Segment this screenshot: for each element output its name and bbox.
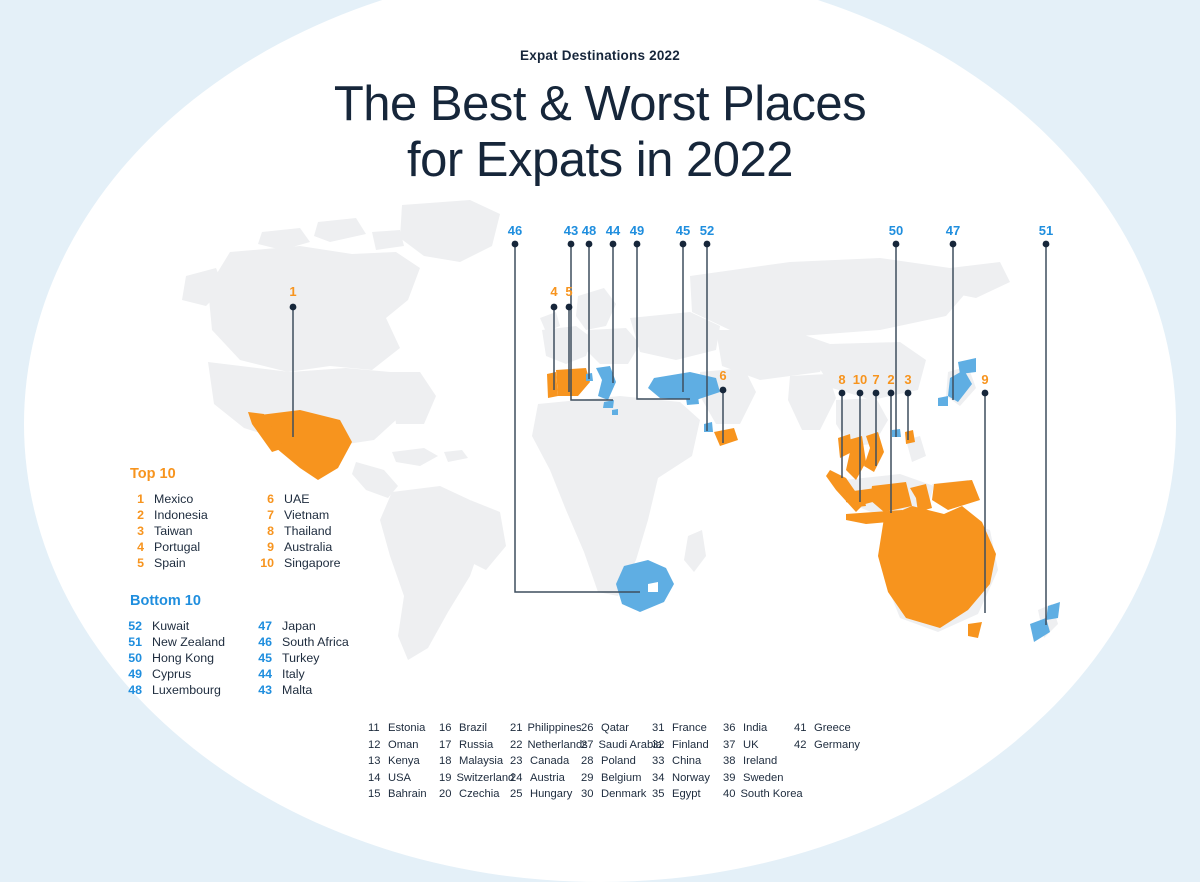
other-rank: 14	[368, 770, 383, 787]
legend-bottom-10-column-1: 52Kuwait51New Zealand50Hong Kong49Cyprus…	[120, 618, 250, 698]
legend-bottom-10-column-2: 47Japan46South Africa45Turkey44Italy43Ma…	[250, 618, 349, 698]
land-india	[788, 374, 836, 430]
other-rankings-row: 30Denmark	[581, 786, 652, 803]
legend-rank: 44	[250, 666, 272, 682]
dot-6	[720, 387, 727, 394]
other-rankings-row: 35Egypt	[652, 786, 723, 803]
legend-row: 10Singapore	[258, 555, 341, 571]
land-canada	[208, 246, 420, 372]
land-caribbean	[392, 448, 438, 466]
legend-rank: 10	[258, 555, 274, 571]
map-marker-label-portugal[interactable]: 4	[550, 284, 557, 299]
legend-row: 3Taiwan	[128, 523, 258, 539]
map-marker-label-uae[interactable]: 6	[719, 368, 726, 383]
dot-9	[982, 390, 989, 397]
other-rank: 26	[581, 720, 596, 737]
legend-row: 8Thailand	[258, 523, 341, 539]
legend-rank: 2	[128, 507, 144, 523]
land-scandinavia	[576, 288, 616, 330]
other-rankings-row: 21Philippines	[510, 720, 581, 737]
other-rankings-table: 11Estonia12Oman13Kenya14USA15Bahrain16Br…	[368, 720, 865, 803]
dot-50	[893, 241, 900, 248]
legend-rank: 45	[250, 650, 272, 666]
map-marker-label-mexico[interactable]: 1	[289, 284, 296, 299]
dot-51	[1043, 241, 1050, 248]
other-rankings-row: 14USA	[368, 770, 439, 787]
other-rankings-column: 41Greece42Germany	[794, 720, 865, 803]
legend-country-name: New Zealand	[152, 634, 225, 650]
legend-rank: 50	[120, 650, 142, 666]
map-marker-label-luxembourg[interactable]: 48	[582, 223, 596, 238]
other-rankings-row: 20Czechia	[439, 786, 510, 803]
country-vietnam	[864, 432, 884, 472]
other-rankings-column: 26Qatar27Saudi Arabia28Poland29Belgium30…	[581, 720, 652, 803]
legend-row: 9Australia	[258, 539, 341, 555]
legend-rank: 43	[250, 682, 272, 698]
map-marker-label-australia[interactable]: 9	[981, 372, 988, 387]
map-marker-label-indonesia[interactable]: 2	[887, 372, 894, 387]
other-rank: 21	[510, 720, 522, 737]
other-rankings-row: 27Saudi Arabia	[581, 737, 652, 754]
header: Expat Destinations 2022 The Best & Worst…	[0, 0, 1200, 188]
legend-country-name: Taiwan	[154, 523, 193, 539]
other-rank: 15	[368, 786, 383, 803]
map-marker-label-singapore[interactable]: 10	[853, 372, 867, 387]
other-rankings-row: 29Belgium	[581, 770, 652, 787]
map-marker-label-malta[interactable]: 43	[564, 223, 578, 238]
legend-bottom-10-heading: Bottom 10	[130, 593, 349, 609]
legend-row: 4Portugal	[128, 539, 258, 555]
land-usa-east	[390, 372, 436, 424]
other-country-name: Oman	[388, 737, 418, 754]
other-country-name: Poland	[601, 753, 636, 770]
other-country-name: Russia	[459, 737, 493, 754]
other-rank: 41	[794, 720, 809, 737]
map-marker-label-italy[interactable]: 44	[606, 223, 620, 238]
dot-49	[634, 241, 641, 248]
land-africa	[532, 396, 700, 596]
legend-row: 7Vietnam	[258, 507, 341, 523]
legend-country-name: Kuwait	[152, 618, 189, 634]
other-country-name: Finland	[672, 737, 709, 754]
other-rank: 16	[439, 720, 454, 737]
other-rankings-row: 11Estonia	[368, 720, 439, 737]
map-marker-label-south-africa[interactable]: 46	[508, 223, 522, 238]
other-country-name: Philippines	[527, 720, 581, 737]
other-rankings-column: 21Philippines22Netherlands23Canada24Aust…	[510, 720, 581, 803]
land-greenland	[400, 200, 500, 262]
legend-rank: 47	[250, 618, 272, 634]
other-rankings-row: 26Qatar	[581, 720, 652, 737]
other-rank: 35	[652, 786, 667, 803]
other-rankings-row: 28Poland	[581, 753, 652, 770]
other-country-name: Switzerland	[456, 770, 514, 787]
other-rank: 40	[723, 786, 735, 803]
legend-rank: 7	[258, 507, 274, 523]
legend-country-name: Portugal	[154, 539, 200, 555]
other-rank: 36	[723, 720, 738, 737]
map-marker-label-cyprus[interactable]: 49	[630, 223, 644, 238]
dot-46	[512, 241, 519, 248]
other-rank: 23	[510, 753, 525, 770]
land-arctic-islands-3	[372, 230, 404, 250]
other-country-name: France	[672, 720, 707, 737]
legend-country-name: Mexico	[154, 491, 193, 507]
other-country-name: Hungary	[530, 786, 572, 803]
dot-45	[680, 241, 687, 248]
other-rankings-row: 32Finland	[652, 737, 723, 754]
other-country-name: Bahrain	[388, 786, 427, 803]
other-rankings-row: 39Sweden	[723, 770, 794, 787]
other-rankings-row: 16Brazil	[439, 720, 510, 737]
map-marker-label-hong-kong[interactable]: 50	[889, 223, 903, 238]
other-rankings-column: 36India37UK38Ireland39Sweden40South Kore…	[723, 720, 794, 803]
legend-rank: 9	[258, 539, 274, 555]
legend-rank: 52	[120, 618, 142, 634]
other-rank: 34	[652, 770, 667, 787]
other-rank: 18	[439, 753, 454, 770]
other-rankings-row: 15Bahrain	[368, 786, 439, 803]
other-rank: 12	[368, 737, 383, 754]
other-rank: 19	[439, 770, 451, 787]
legend-country-name: Thailand	[284, 523, 332, 539]
other-country-name: Sweden	[743, 770, 783, 787]
country-nz-south	[1030, 618, 1050, 642]
other-rank: 13	[368, 753, 383, 770]
other-rankings-row: 17Russia	[439, 737, 510, 754]
other-rankings-row: 38Ireland	[723, 753, 794, 770]
other-rankings-row: 41Greece	[794, 720, 865, 737]
dot-52	[704, 241, 711, 248]
legend-top-10-heading: Top 10	[130, 466, 341, 482]
other-country-name: Greece	[814, 720, 851, 737]
other-rankings-row: 22Netherlands	[510, 737, 581, 754]
other-rankings-row: 40South Korea	[723, 786, 794, 803]
legend-country-name: Indonesia	[154, 507, 208, 523]
country-indonesia-papua	[932, 480, 980, 510]
legend-row: 51New Zealand	[120, 634, 250, 650]
other-rank: 27	[581, 737, 593, 754]
dot-44	[610, 241, 617, 248]
country-nz-north	[1046, 602, 1060, 620]
map-marker-label-thailand[interactable]: 8	[838, 372, 845, 387]
legend-rank: 3	[128, 523, 144, 539]
legend-country-name: Japan	[282, 618, 316, 634]
other-rankings-row: 12Oman	[368, 737, 439, 754]
legend-rank: 6	[258, 491, 274, 507]
land-europe-west	[542, 326, 592, 364]
other-country-name: Brazil	[459, 720, 487, 737]
legend-top-10: Top 10 1Mexico2Indonesia3Taiwan4Portugal…	[128, 466, 341, 571]
other-rank: 39	[723, 770, 738, 787]
legend-country-name: Malta	[282, 682, 312, 698]
legend-rank: 48	[120, 682, 142, 698]
other-country-name: Egypt	[672, 786, 701, 803]
other-rank: 20	[439, 786, 454, 803]
other-country-name: Czechia	[459, 786, 499, 803]
other-rankings-row: 23Canada	[510, 753, 581, 770]
other-country-name: Norway	[672, 770, 710, 787]
dot-47	[950, 241, 957, 248]
page-title: The Best & Worst Places for Expats in 20…	[0, 76, 1200, 188]
other-country-name: Ireland	[743, 753, 777, 770]
legend-row: 47Japan	[250, 618, 349, 634]
land-madagascar	[684, 530, 706, 572]
other-rank: 28	[581, 753, 596, 770]
land-south-america	[380, 486, 484, 660]
legend-country-name: UAE	[284, 491, 309, 507]
other-rank: 29	[581, 770, 596, 787]
other-country-name: Germany	[814, 737, 860, 754]
other-rankings-row: 25Hungary	[510, 786, 581, 803]
other-rankings-column: 31France32Finland33China34Norway35Egypt	[652, 720, 723, 803]
legend-country-name: Australia	[284, 539, 332, 555]
country-south-africa	[616, 560, 674, 612]
other-rankings-row: 36India	[723, 720, 794, 737]
infographic-canvas: Expat Destinations 2022 The Best & Worst…	[0, 0, 1200, 848]
legend-country-name: Spain	[154, 555, 186, 571]
map-marker-label-japan[interactable]: 47	[946, 223, 960, 238]
map-marker-label-new-zealand[interactable]: 51	[1039, 223, 1053, 238]
legend-row: 2Indonesia	[128, 507, 258, 523]
other-country-name: UK	[743, 737, 759, 754]
title-line-1: The Best & Worst Places	[334, 77, 866, 131]
legend-rank: 5	[128, 555, 144, 571]
legend-country-name: Italy	[282, 666, 305, 682]
other-country-name: USA	[388, 770, 411, 787]
other-rank: 24	[510, 770, 525, 787]
other-country-name: Canada	[530, 753, 569, 770]
country-malta	[612, 409, 618, 415]
other-rank: 31	[652, 720, 667, 737]
map-marker-label-kuwait[interactable]: 52	[700, 223, 714, 238]
other-rankings-row: 18Malaysia	[439, 753, 510, 770]
legend-row: 50Hong Kong	[120, 650, 250, 666]
title-line-2: for Expats in 2022	[0, 132, 1200, 188]
legend-row: 1Mexico	[128, 491, 258, 507]
dot-3	[905, 390, 912, 397]
other-country-name: Qatar	[601, 720, 629, 737]
legend-row: 46South Africa	[250, 634, 349, 650]
map-marker-label-taiwan[interactable]: 3	[904, 372, 911, 387]
country-kuwait	[704, 422, 713, 432]
land-arctic-islands-2	[314, 218, 366, 242]
other-rankings-row: 13Kenya	[368, 753, 439, 770]
legend-country-name: Cyprus	[152, 666, 191, 682]
dot-4	[551, 304, 558, 311]
legend-row: 48Luxembourg	[120, 682, 250, 698]
other-rankings-row: 42Germany	[794, 737, 865, 754]
other-rankings-row: 24Austria	[510, 770, 581, 787]
legend-country-name: South Africa	[282, 634, 349, 650]
legend-row: 43Malta	[250, 682, 349, 698]
country-tasmania	[968, 622, 982, 638]
country-portugal	[547, 372, 558, 398]
land-siberia-east	[946, 262, 1010, 298]
map-marker-label-spain[interactable]: 5	[565, 284, 572, 299]
country-japan-hokkaido	[958, 358, 976, 374]
dot-8	[839, 390, 846, 397]
legend-row: 52Kuwait	[120, 618, 250, 634]
legend-country-name: Hong Kong	[152, 650, 214, 666]
legend-rank: 8	[258, 523, 274, 539]
other-country-name: Kenya	[388, 753, 420, 770]
dot-48	[586, 241, 593, 248]
other-rank: 32	[652, 737, 667, 754]
other-rank: 33	[652, 753, 667, 770]
legend-country-name: Singapore	[284, 555, 341, 571]
other-country-name: Denmark	[601, 786, 646, 803]
dot-7	[873, 390, 880, 397]
legend-row: 6UAE	[258, 491, 341, 507]
legend-row: 49Cyprus	[120, 666, 250, 682]
other-rank: 25	[510, 786, 525, 803]
other-rankings-column: 16Brazil17Russia18Malaysia19Switzerland2…	[439, 720, 510, 803]
other-country-name: India	[743, 720, 767, 737]
other-country-name: China	[672, 753, 701, 770]
dot-5	[566, 304, 573, 311]
map-marker-label-vietnam[interactable]: 7	[872, 372, 879, 387]
other-country-name: Belgium	[601, 770, 641, 787]
other-country-name: Austria	[530, 770, 565, 787]
other-rankings-row: 31France	[652, 720, 723, 737]
legend-rank: 4	[128, 539, 144, 555]
legend-row: 5Spain	[128, 555, 258, 571]
other-rankings-row: 19Switzerland	[439, 770, 510, 787]
legend-row: 45Turkey	[250, 650, 349, 666]
other-rankings-row: 37UK	[723, 737, 794, 754]
country-uae	[714, 428, 738, 446]
other-rankings-column: 11Estonia12Oman13Kenya14USA15Bahrain	[368, 720, 439, 803]
legend-top-10-column-1: 1Mexico2Indonesia3Taiwan4Portugal5Spain	[128, 491, 258, 571]
kicker-text: Expat Destinations 2022	[0, 48, 1200, 63]
other-rank: 42	[794, 737, 809, 754]
legend-country-name: Turkey	[282, 650, 319, 666]
country-taiwan	[905, 430, 915, 444]
dot-10	[857, 390, 864, 397]
country-japan-kyushu	[938, 396, 948, 406]
other-rank: 38	[723, 753, 738, 770]
other-rank: 37	[723, 737, 738, 754]
other-rankings-row: 33China	[652, 753, 723, 770]
other-rankings-row: 34Norway	[652, 770, 723, 787]
other-rank: 22	[510, 737, 522, 754]
dot-1	[290, 304, 297, 311]
land-russia	[690, 258, 970, 336]
dot-2	[888, 390, 895, 397]
other-rank: 30	[581, 786, 596, 803]
legend-top-10-column-2: 6UAE7Vietnam8Thailand9Australia10Singapo…	[258, 491, 341, 571]
legend-rank: 1	[128, 491, 144, 507]
other-country-name: Malaysia	[459, 753, 503, 770]
legend-rank: 51	[120, 634, 142, 650]
legend-rank: 46	[250, 634, 272, 650]
dot-43	[568, 241, 575, 248]
legend-country-name: Luxembourg	[152, 682, 221, 698]
land-central-america	[352, 462, 398, 498]
legend-rank: 49	[120, 666, 142, 682]
other-country-name: Estonia	[388, 720, 425, 737]
other-country-name: Netherlands	[527, 737, 587, 754]
land-caribbean-2	[444, 450, 468, 462]
country-spain	[556, 368, 590, 396]
legend-bottom-10: Bottom 10 52Kuwait51New Zealand50Hong Ko…	[120, 593, 349, 698]
legend-country-name: Vietnam	[284, 507, 329, 523]
map-marker-label-turkey[interactable]: 45	[676, 223, 690, 238]
legend-row: 44Italy	[250, 666, 349, 682]
other-rank: 11	[368, 720, 383, 737]
other-rank: 17	[439, 737, 454, 754]
